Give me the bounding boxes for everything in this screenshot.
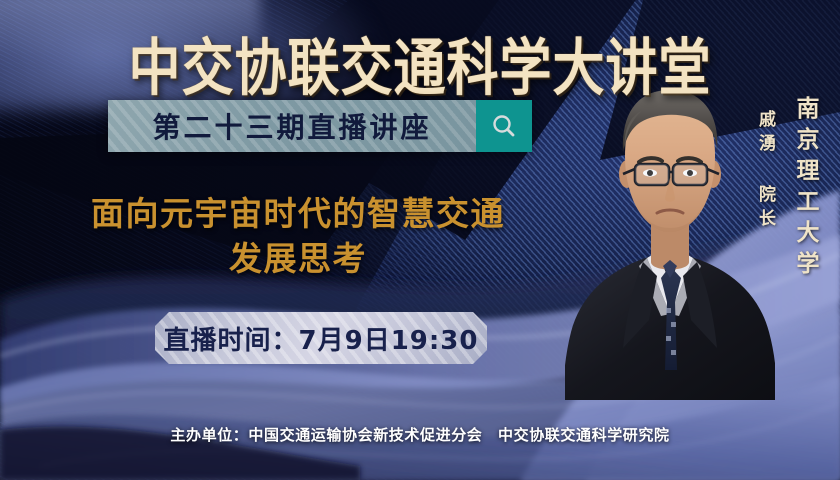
speaker-info: 戚湧 院长 南京理工大学 [753, 96, 822, 282]
lecture-title-line1: 面向元宇宙时代的智慧交通 [91, 194, 505, 233]
poster-canvas: 中交协联交通科学大讲堂 第二十三期直播讲座 面向元宇宙时代的智慧交通 发展思考 … [0, 0, 840, 480]
subtitle-bar: 第二十三期直播讲座 [108, 100, 532, 152]
organizer-footer: 主办单位：中国交通运输协会新技术促进分会 中交协联交通科学研究院 [0, 424, 840, 445]
subtitle-bar-fill: 第二十三期直播讲座 [108, 100, 476, 152]
lecture-title-line2: 发展思考 [38, 237, 558, 282]
lecture-title: 面向元宇宙时代的智慧交通 发展思考 [38, 192, 558, 282]
broadcast-time-banner: 直播时间：7月9日19:30 [155, 312, 487, 364]
search-icon [491, 113, 517, 139]
subtitle-label: 第二十三期直播讲座 [152, 106, 431, 146]
speaker-affiliation: 南京理工大学 [788, 96, 822, 282]
speaker-name-title: 戚湧 院长 [753, 110, 778, 233]
speaker-portrait [565, 70, 775, 400]
search-button[interactable] [476, 100, 532, 152]
page-title: 中交协联交通科学大讲堂 [0, 18, 840, 106]
broadcast-time-label: 直播时间：7月9日19:30 [164, 320, 479, 357]
